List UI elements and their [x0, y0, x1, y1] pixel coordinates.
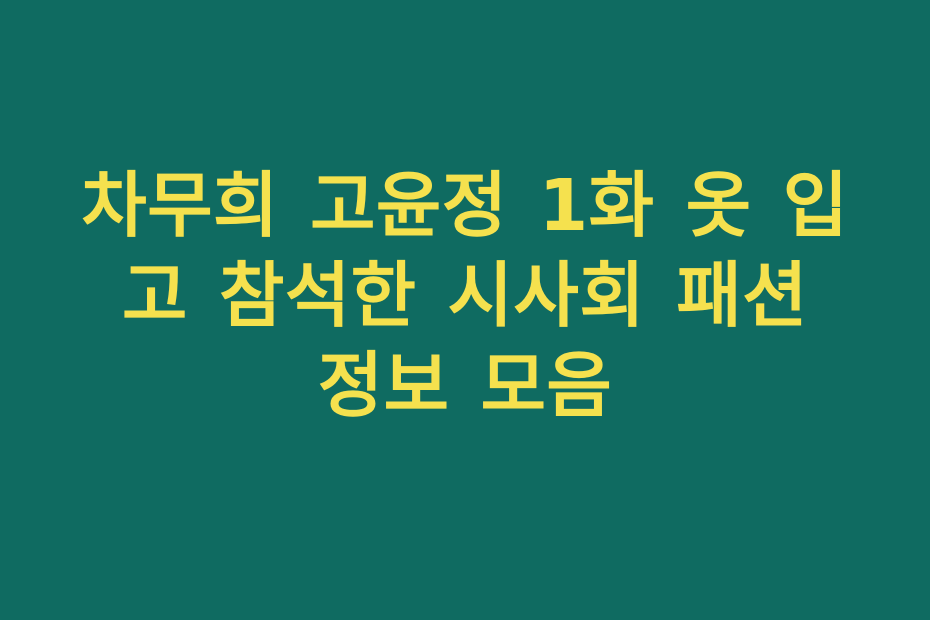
headline-line-2: 고 참석한 시사회 패션 [50, 251, 880, 341]
headline-line-3: 정보 모음 [50, 341, 880, 431]
headline-line-1: 차무희 고윤정 1화 옷 입 [50, 161, 880, 251]
thumbnail-canvas: 차무희 고윤정 1화 옷 입 고 참석한 시사회 패션 정보 모음 [0, 0, 930, 620]
headline-block: 차무희 고윤정 1화 옷 입 고 참석한 시사회 패션 정보 모음 [50, 161, 880, 459]
